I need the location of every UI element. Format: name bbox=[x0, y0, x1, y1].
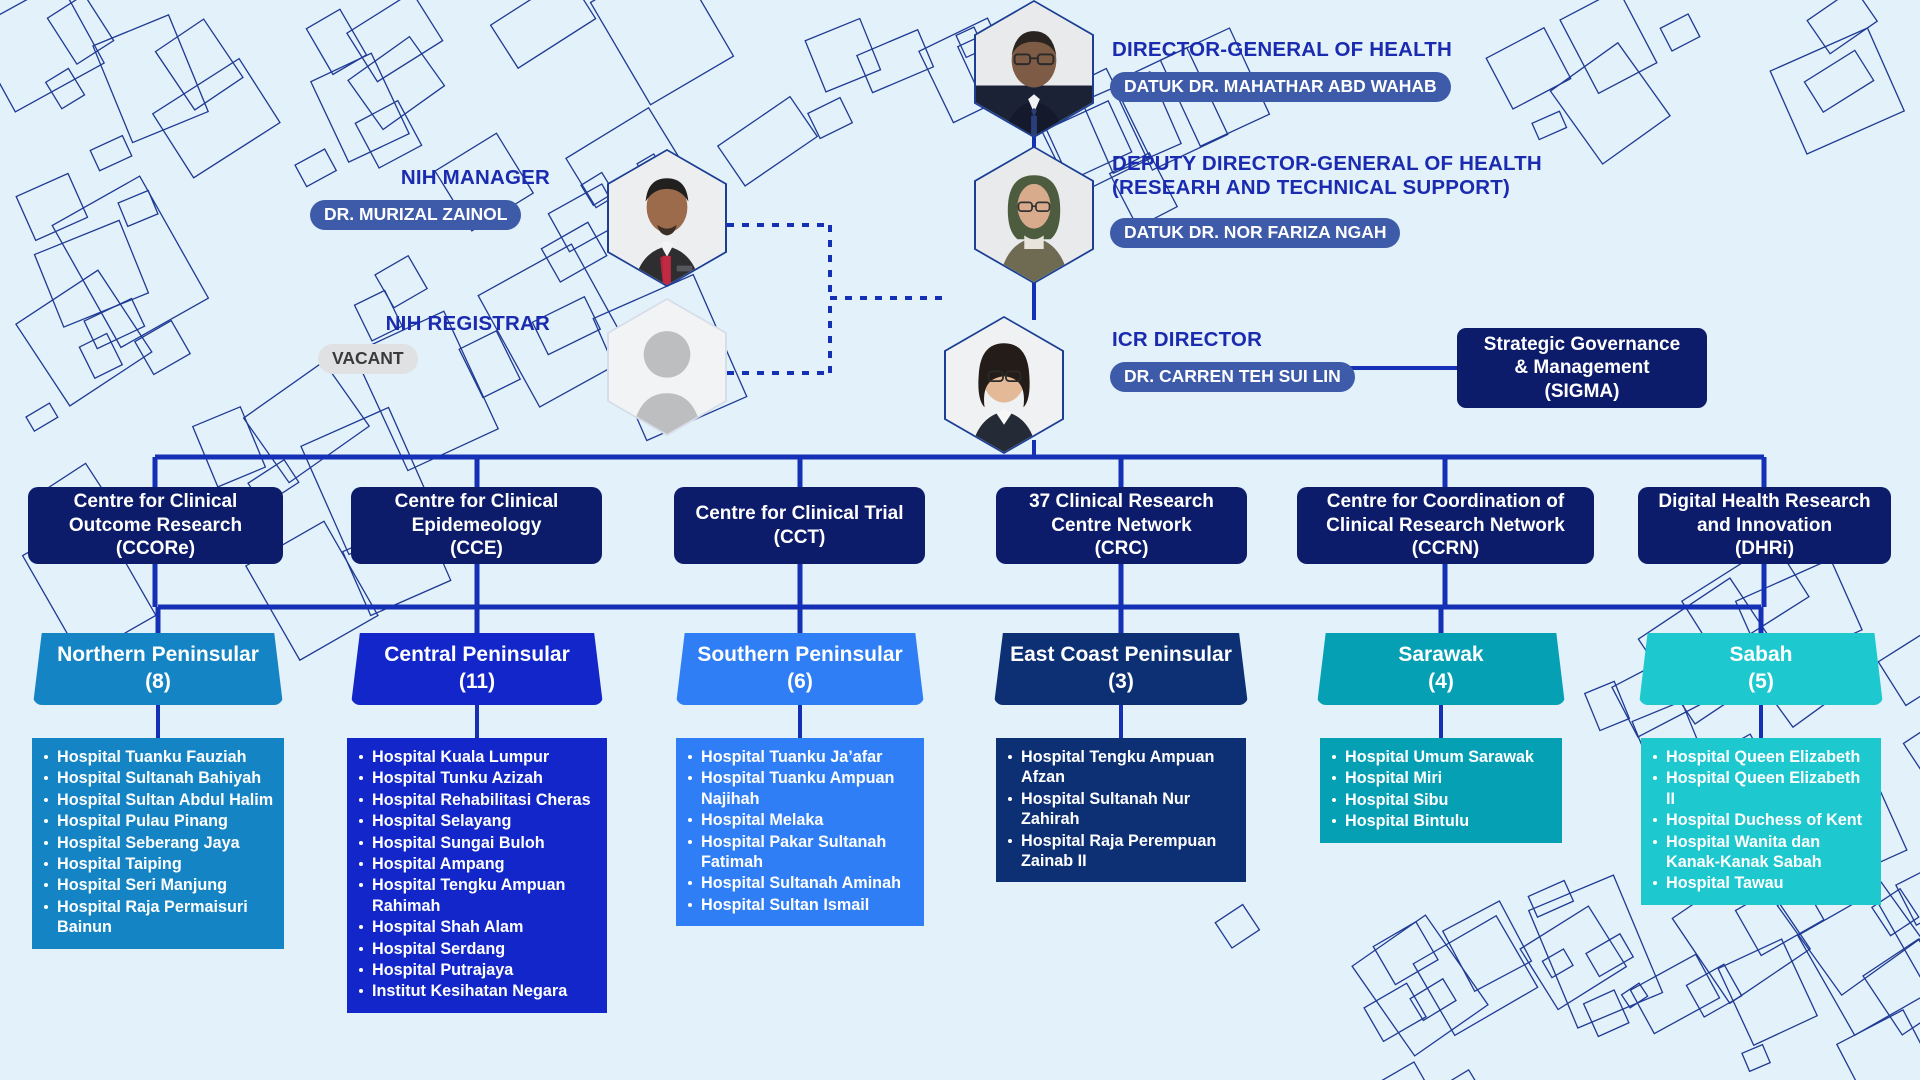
role-name-director-general: DATUK DR. MAHATHAR ABD WAHAB bbox=[1110, 72, 1451, 102]
org-chart-canvas: DIRECTOR-GENERAL OF HEALTH DATUK DR. MAH… bbox=[0, 0, 1920, 1080]
photo-nih-registrar bbox=[607, 298, 727, 436]
role-name-nih-manager: DR. MURIZAL ZAINOL bbox=[310, 200, 521, 230]
list-item: Hospital Sultanah Bahiyah bbox=[40, 768, 274, 788]
region-header-central-peninsular[interactable]: Central Peninsular (11) bbox=[351, 633, 603, 705]
centre-box-cce[interactable]: Centre for Clinical Epidemeology (CCE) bbox=[351, 487, 602, 564]
hospital-list: Hospital Tuanku FauziahHospital Sultanah… bbox=[40, 747, 274, 938]
list-item: Hospital Bintulu bbox=[1328, 811, 1552, 831]
role-title-nih-manager: NIH MANAGER bbox=[230, 166, 550, 190]
photo-director-general bbox=[974, 0, 1094, 138]
photo-nih-manager bbox=[607, 149, 727, 287]
role-name-icr-director: DR. CARREN TEH SUI LIN bbox=[1110, 362, 1355, 392]
role-title-director-general: DIRECTOR-GENERAL OF HEALTH bbox=[1112, 38, 1542, 62]
list-item: Hospital Seberang Jaya bbox=[40, 833, 274, 853]
list-item: Hospital Miri bbox=[1328, 768, 1552, 788]
role-title-deputy-director-general: DEPUTY DIRECTOR-GENERAL OF HEALTH (RESEA… bbox=[1112, 152, 1612, 200]
centre-box-cct[interactable]: Centre for Clinical Trial (CCT) bbox=[674, 487, 925, 564]
hospital-list-sabah: Hospital Queen ElizabethHospital Queen E… bbox=[1641, 738, 1881, 905]
centre-box-ccrn[interactable]: Centre for Coordination of Clinical Rese… bbox=[1297, 487, 1594, 564]
sigma-box[interactable]: Strategic Governance & Management (SIGMA… bbox=[1457, 328, 1707, 408]
list-item: Hospital Ampang bbox=[355, 854, 597, 874]
hospital-list-east-coast-peninsular: Hospital Tengku Ampuan AfzanHospital Sul… bbox=[996, 738, 1246, 882]
hospital-list: Hospital Tuanku Ja’afarHospital Tuanku A… bbox=[684, 747, 914, 915]
hospital-list-central-peninsular: Hospital Kuala LumpurHospital Tunku Aziz… bbox=[347, 738, 607, 1013]
centre-box-crc[interactable]: 37 Clinical Research Centre Network (CRC… bbox=[996, 487, 1247, 564]
list-item: Hospital Tengku Ampuan Rahimah bbox=[355, 875, 597, 916]
hospital-list-northern-peninsular: Hospital Tuanku FauziahHospital Sultanah… bbox=[32, 738, 284, 949]
region-header-northern-peninsular[interactable]: Northern Peninsular (8) bbox=[33, 633, 283, 705]
list-item: Hospital Kuala Lumpur bbox=[355, 747, 597, 767]
list-item: Hospital Sultanah Nur Zahirah bbox=[1004, 789, 1236, 830]
list-item: Hospital Wanita dan Kanak-Kanak Sabah bbox=[1649, 832, 1871, 873]
list-item: Hospital Sungai Buloh bbox=[355, 833, 597, 853]
list-item: Institut Kesihatan Negara bbox=[355, 981, 597, 1001]
list-item: Hospital Queen Elizabeth II bbox=[1649, 768, 1871, 809]
list-item: Hospital Tunku Azizah bbox=[355, 768, 597, 788]
list-item: Hospital Raja Permaisuri Bainun bbox=[40, 897, 274, 938]
list-item: Hospital Sultanah Aminah bbox=[684, 873, 914, 893]
list-item: Hospital Pulau Pinang bbox=[40, 811, 274, 831]
list-item: Hospital Tuanku Fauziah bbox=[40, 747, 274, 767]
list-item: Hospital Raja Perempuan Zainab II bbox=[1004, 831, 1236, 872]
list-item: Hospital Rehabilitasi Cheras bbox=[355, 790, 597, 810]
centre-box-ccore[interactable]: Centre for Clinical Outcome Research (CC… bbox=[28, 487, 283, 564]
hospital-list: Hospital Tengku Ampuan AfzanHospital Sul… bbox=[1004, 747, 1236, 871]
photo-deputy-director-general bbox=[974, 146, 1094, 284]
background-decoration bbox=[0, 0, 1920, 1080]
list-item: Hospital Tawau bbox=[1649, 873, 1871, 893]
region-header-sarawak[interactable]: Sarawak (4) bbox=[1317, 633, 1565, 705]
photo-icr-director bbox=[944, 316, 1064, 454]
list-item: Hospital Tengku Ampuan Afzan bbox=[1004, 747, 1236, 788]
role-title-nih-registrar: NIH REGISTRAR bbox=[230, 312, 550, 336]
hospital-list: Hospital Kuala LumpurHospital Tunku Aziz… bbox=[355, 747, 597, 1002]
hospital-list-sarawak: Hospital Umum SarawakHospital MiriHospit… bbox=[1320, 738, 1562, 843]
list-item: Hospital Taiping bbox=[40, 854, 274, 874]
region-header-sabah[interactable]: Sabah (5) bbox=[1639, 633, 1883, 705]
list-item: Hospital Serdang bbox=[355, 939, 597, 959]
list-item: Hospital Putrajaya bbox=[355, 960, 597, 980]
list-item: Hospital Pakar Sultanah Fatimah bbox=[684, 832, 914, 873]
role-title-icr-director: ICR DIRECTOR bbox=[1112, 328, 1512, 352]
list-item: Hospital Queen Elizabeth bbox=[1649, 747, 1871, 767]
list-item: Hospital Sibu bbox=[1328, 790, 1552, 810]
centre-box-dhri[interactable]: Digital Health Research and Innovation (… bbox=[1638, 487, 1891, 564]
list-item: Hospital Tuanku Ampuan Najihah bbox=[684, 768, 914, 809]
list-item: Hospital Seri Manjung bbox=[40, 875, 274, 895]
hospital-list: Hospital Umum SarawakHospital MiriHospit… bbox=[1328, 747, 1552, 832]
list-item: Hospital Shah Alam bbox=[355, 917, 597, 937]
list-item: Hospital Duchess of Kent bbox=[1649, 810, 1871, 830]
list-item: Hospital Sultan Abdul Halim bbox=[40, 790, 274, 810]
role-name-nih-registrar: VACANT bbox=[318, 344, 418, 374]
list-item: Hospital Melaka bbox=[684, 810, 914, 830]
connector-lines bbox=[0, 0, 1920, 1080]
list-item: Hospital Tuanku Ja’afar bbox=[684, 747, 914, 767]
list-item: Hospital Sultan Ismail bbox=[684, 895, 914, 915]
list-item: Hospital Selayang bbox=[355, 811, 597, 831]
region-header-east-coast-peninsular[interactable]: East Coast Peninsular (3) bbox=[994, 633, 1248, 705]
role-name-deputy-director-general: DATUK DR. NOR FARIZA NGAH bbox=[1110, 218, 1400, 248]
hospital-list: Hospital Queen ElizabethHospital Queen E… bbox=[1649, 747, 1871, 894]
region-header-southern-peninsular[interactable]: Southern Peninsular (6) bbox=[676, 633, 924, 705]
hospital-list-southern-peninsular: Hospital Tuanku Ja’afarHospital Tuanku A… bbox=[676, 738, 924, 926]
list-item: Hospital Umum Sarawak bbox=[1328, 747, 1552, 767]
